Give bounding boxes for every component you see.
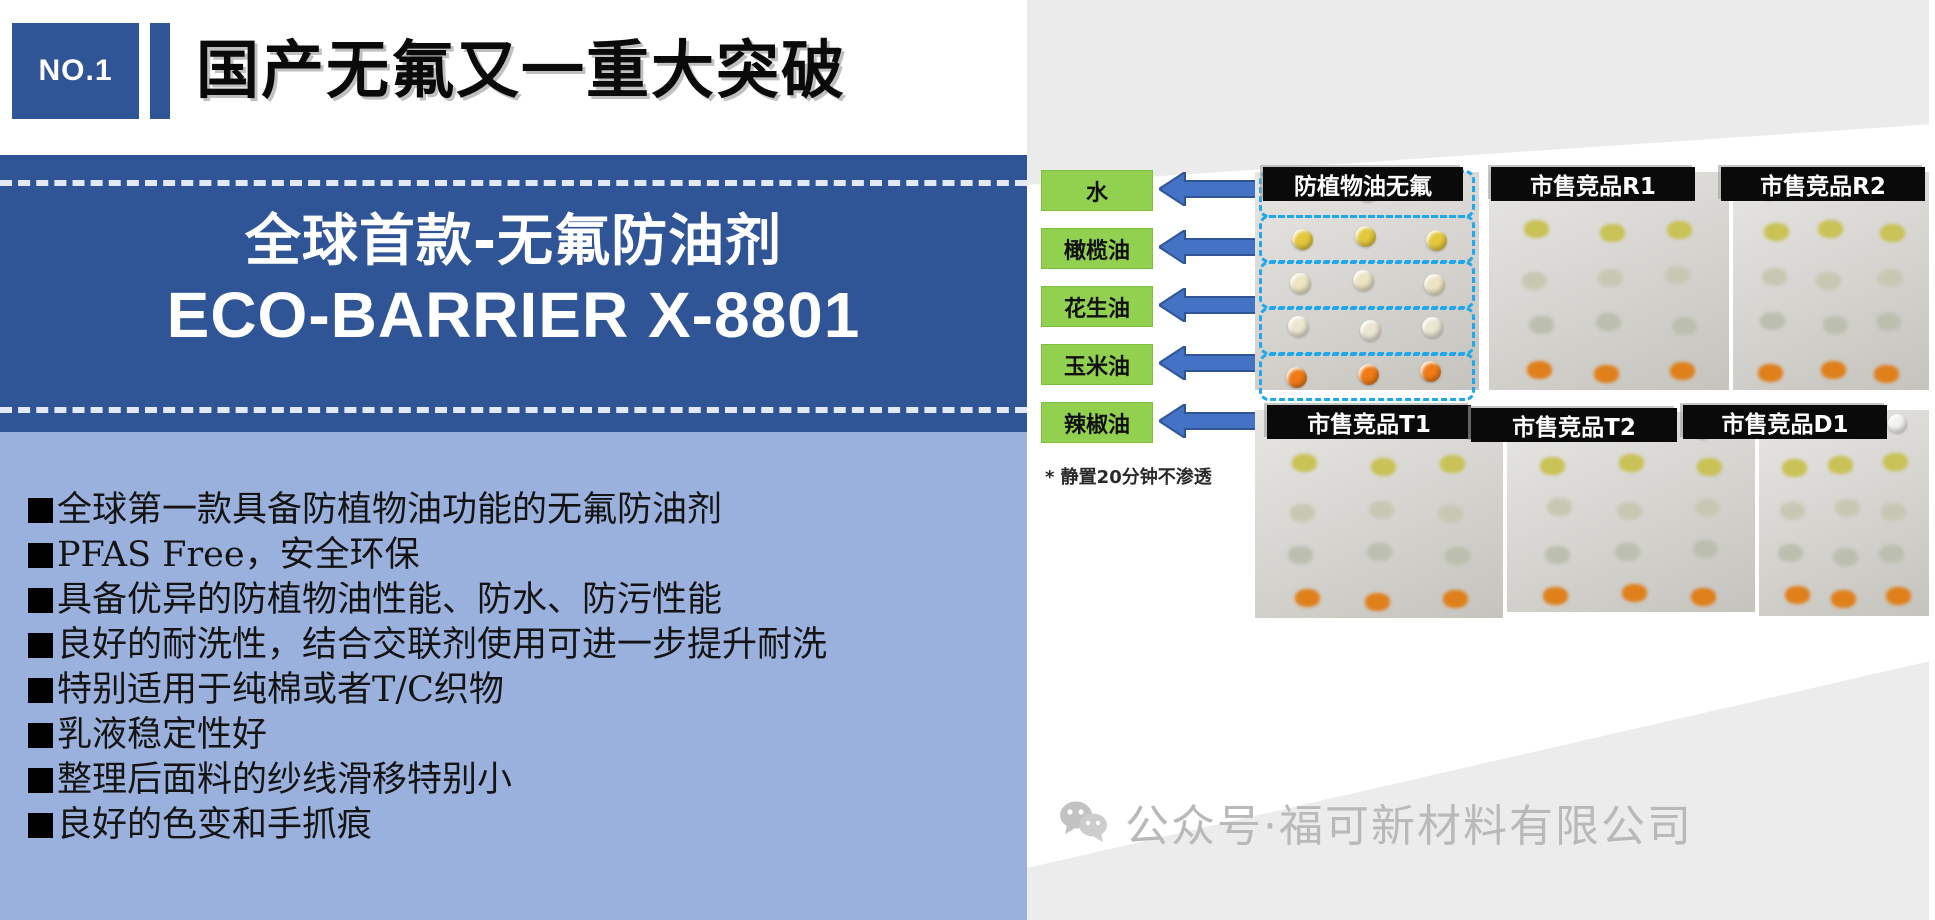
- liquid-droplet: [1876, 313, 1901, 331]
- liquid-droplet: [1547, 498, 1572, 516]
- panel-title: 市售竞品D1: [1683, 405, 1887, 439]
- feature-list-item-label: 特别适用于纯棉或者T/C织物: [57, 668, 504, 712]
- liquid-droplet: [1758, 364, 1783, 382]
- feature-list-item: 整理后面料的纱线滑移特别小: [28, 758, 1018, 802]
- liquid-droplet: [1443, 590, 1468, 608]
- feature-list-item-label: 全球第一款具备防植物油功能的无氟防油剂: [57, 488, 722, 532]
- wechat-icon: [1059, 800, 1111, 844]
- liquid-droplet: [1619, 454, 1644, 472]
- panel-title: 市售竞品T1: [1267, 405, 1471, 439]
- liquid-droplet: [1667, 221, 1692, 239]
- liquid-droplet: [1831, 590, 1856, 608]
- panel-title: 防植物油无氟: [1263, 167, 1463, 201]
- liquid-droplet: [1665, 266, 1690, 284]
- liquid-droplet: [1782, 459, 1807, 477]
- liquid-droplet: [1543, 587, 1568, 605]
- liquid-droplet: [1780, 502, 1805, 520]
- liquid-droplet: [1529, 316, 1554, 334]
- left-column: NO.1 国产无氟又一重大突破 全球首款-无氟防油剂 ECO-BARRIER X…: [0, 0, 1027, 920]
- liquid-droplet: [1823, 316, 1848, 334]
- liquid-droplet: [1818, 220, 1843, 238]
- feature-list-area: 全球第一款具备防植物油功能的无氟防油剂 PFAS Free，安全环保具备优异的防…: [0, 432, 1027, 920]
- result-highlight-box: [1259, 215, 1475, 263]
- bullet-square-icon: [28, 723, 53, 748]
- liquid-droplet: [1594, 365, 1619, 383]
- feature-list-item: 良好的耐洗性，结合交联剂使用可进一步提升耐洗: [28, 623, 1018, 667]
- liquid-droplet: [1524, 220, 1549, 238]
- right-column: 水橄榄油花生油玉米油辣椒油 * 静置20分钟不渗透 防植物油无氟市售竞品R1市售…: [1027, 0, 1935, 920]
- no-badge: NO.1: [12, 23, 139, 119]
- liquid-droplet: [1828, 456, 1853, 474]
- feature-list-item: PFAS Free，安全环保: [28, 533, 1018, 577]
- liquid-droplet: [1365, 593, 1390, 611]
- bullet-square-icon: [28, 813, 53, 838]
- liquid-droplet: [1695, 499, 1720, 517]
- liquid-droplet: [1888, 414, 1907, 433]
- result-highlight-box: [1259, 307, 1475, 355]
- page-title: 国产无氟又一重大突破: [196, 16, 846, 126]
- feature-list: 全球第一款具备防植物油功能的无氟防油剂 PFAS Free，安全环保具备优异的防…: [28, 488, 1018, 848]
- liquid-droplet: [1883, 453, 1908, 471]
- legend-row: 花生油: [1041, 286, 1281, 327]
- liquid-droplet: [1879, 545, 1904, 563]
- bullet-square-icon: [28, 633, 53, 658]
- bullet-square-icon: [28, 543, 53, 568]
- slide-root: NO.1 国产无氟又一重大突破 全球首款-无氟防油剂 ECO-BARRIER X…: [0, 0, 1935, 920]
- panel-title: 市售竞品T2: [1471, 408, 1677, 442]
- liquid-droplet: [1691, 588, 1716, 606]
- result-highlight-box: [1259, 261, 1475, 309]
- liquid-droplet: [1881, 503, 1906, 521]
- liquid-droplet: [1878, 269, 1903, 287]
- liquid-droplet: [1816, 272, 1841, 290]
- legend-chip: 橄榄油: [1041, 228, 1153, 269]
- liquid-droplet: [1697, 458, 1722, 476]
- liquid-droplet: [1367, 543, 1392, 561]
- liquid-droplet: [1833, 548, 1858, 566]
- sample-panel: [1489, 172, 1729, 390]
- liquid-droplet: [1874, 365, 1899, 383]
- liquid-droplet: [1886, 587, 1911, 605]
- liquid-droplet: [1778, 544, 1803, 562]
- right-edge-strip: [1929, 0, 1935, 920]
- liquid-droplet: [1672, 317, 1697, 335]
- badge-accent-bar: [150, 23, 170, 119]
- liquid-droplet: [1693, 540, 1718, 558]
- banner-line-1: 全球首款-无氟防油剂: [0, 207, 1027, 277]
- feature-list-item: 特别适用于纯棉或者T/C织物: [28, 668, 1018, 712]
- liquid-droplet: [1596, 313, 1621, 331]
- bullet-square-icon: [28, 498, 53, 523]
- legend-row: 橄榄油: [1041, 228, 1281, 269]
- feature-list-item-label: 乳液稳定性好: [57, 713, 267, 757]
- legend-chip: 辣椒油: [1041, 402, 1153, 443]
- liquid-droplet: [1598, 269, 1623, 287]
- liquid-droplet: [1760, 312, 1785, 330]
- liquid-droplet: [1522, 272, 1547, 290]
- liquid-droplet: [1600, 224, 1625, 242]
- sample-panel: [1255, 410, 1503, 618]
- banner-dash-bottom: [0, 407, 1027, 413]
- sample-panel: [1507, 412, 1755, 612]
- feature-list-item-label: 具备优异的防植物油性能、防水、防污性能: [57, 578, 722, 622]
- feature-list-item: 良好的色变和手抓痕: [28, 803, 1018, 847]
- liquid-droplet: [1835, 499, 1860, 517]
- sample-panel: [1759, 410, 1929, 616]
- liquid-droplet: [1540, 457, 1565, 475]
- liquid-droplet: [1821, 361, 1846, 379]
- legend-row: 玉米油: [1041, 344, 1281, 385]
- watermark-text: 公众号·福可新材料有限公司: [1125, 790, 1693, 854]
- feature-list-item: 乳液稳定性好: [28, 713, 1018, 757]
- legend-row: 辣椒油: [1041, 402, 1281, 443]
- liquid-droplet: [1292, 454, 1317, 472]
- liquid-droplet: [1288, 546, 1313, 564]
- feature-list-item: 全球第一款具备防植物油功能的无氟防油剂: [28, 488, 1018, 532]
- liquid-droplet: [1880, 224, 1905, 242]
- bullet-square-icon: [28, 678, 53, 703]
- product-banner: 全球首款-无氟防油剂 ECO-BARRIER X-8801: [0, 155, 1027, 432]
- liquid-droplet: [1371, 458, 1396, 476]
- sample-panel: [1733, 172, 1929, 390]
- banner-dash-top: [0, 180, 1027, 186]
- legend-chip: 玉米油: [1041, 344, 1153, 385]
- liquid-droplet: [1438, 505, 1463, 523]
- banner-line-2: ECO-BARRIER X-8801: [0, 277, 1027, 353]
- liquid-droplet: [1622, 584, 1647, 602]
- feature-list-item-label: PFAS Free，安全环保: [57, 533, 420, 577]
- liquid-droplet: [1670, 362, 1695, 380]
- legend-row: 水: [1041, 170, 1281, 211]
- feature-list-item-label: 整理后面料的纱线滑移特别小: [57, 758, 512, 802]
- legend-footnote: * 静置20分钟不渗透: [1045, 463, 1212, 489]
- bullet-square-icon: [28, 768, 53, 793]
- watermark: 公众号·福可新材料有限公司: [1059, 790, 1693, 854]
- legend-chip: 水: [1041, 170, 1153, 211]
- panel-title: 市售竞品R2: [1721, 167, 1925, 201]
- feature-list-item-label: 良好的耐洗性，结合交联剂使用可进一步提升耐洗: [57, 623, 827, 667]
- panel-title: 市售竞品R1: [1491, 167, 1695, 201]
- liquid-legend: 水橄榄油花生油玉米油辣椒油: [1041, 170, 1281, 460]
- liquid-droplet: [1445, 547, 1470, 565]
- banner-text-group: 全球首款-无氟防油剂 ECO-BARRIER X-8801: [0, 207, 1027, 353]
- liquid-droplet: [1617, 502, 1642, 520]
- liquid-droplet: [1527, 361, 1552, 379]
- result-highlight-box: [1259, 353, 1475, 401]
- legend-chip: 花生油: [1041, 286, 1153, 327]
- liquid-droplet: [1369, 501, 1394, 519]
- header-row: NO.1 国产无氟又一重大突破: [0, 0, 1027, 155]
- liquid-droplet: [1545, 546, 1570, 564]
- feature-list-item: 具备优异的防植物油性能、防水、防污性能: [28, 578, 1018, 622]
- liquid-droplet: [1295, 589, 1320, 607]
- feature-list-item-label: 良好的色变和手抓痕: [57, 803, 372, 847]
- liquid-droplet: [1440, 455, 1465, 473]
- liquid-droplet: [1785, 586, 1810, 604]
- liquid-droplet: [1762, 268, 1787, 286]
- liquid-droplet: [1290, 504, 1315, 522]
- liquid-droplet: [1764, 223, 1789, 241]
- liquid-droplet: [1615, 543, 1640, 561]
- bullet-square-icon: [28, 588, 53, 613]
